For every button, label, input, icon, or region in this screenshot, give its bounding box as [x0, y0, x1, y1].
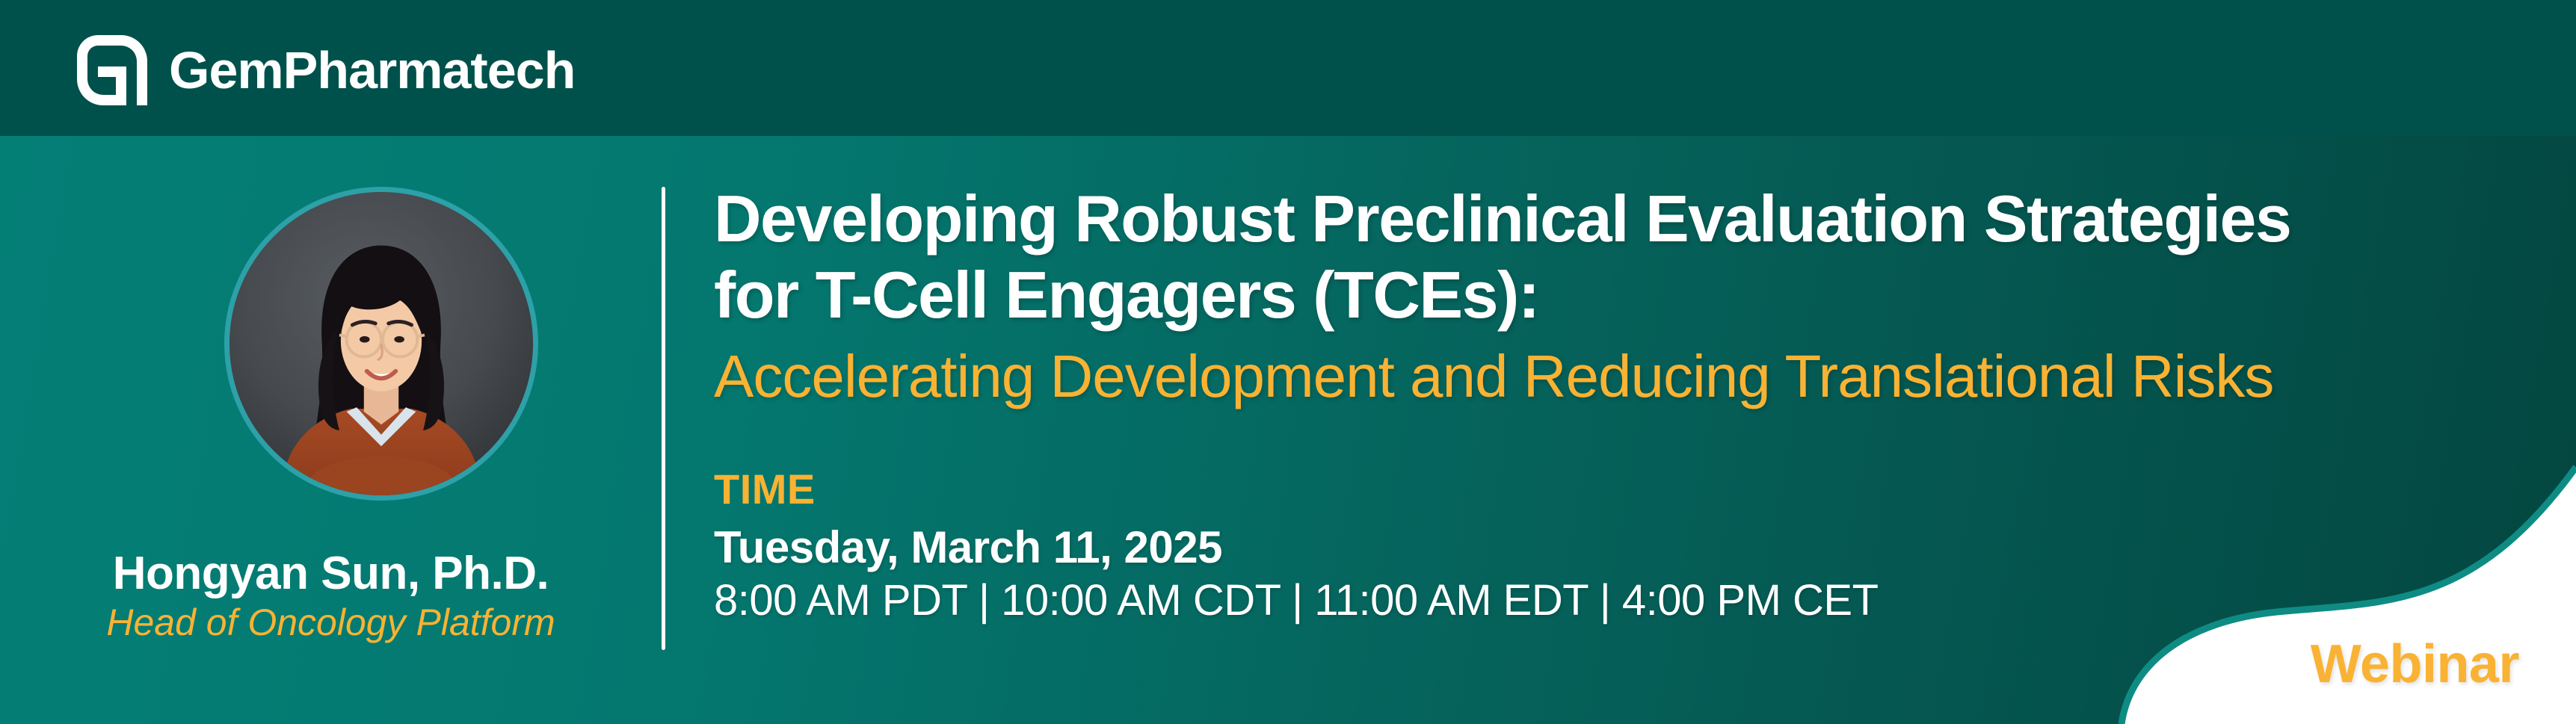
webinar-banner: GemPharmatech — [0, 0, 2576, 724]
top-brand-bar: GemPharmatech — [0, 0, 2576, 136]
speaker-column: Hongyan Sun, Ph.D. Head of Oncology Plat… — [0, 136, 662, 724]
webinar-title: Developing Robust Preclinical Evaluation… — [714, 181, 2344, 333]
brand-wordmark: GemPharmatech — [169, 44, 575, 96]
vertical-divider — [662, 187, 665, 650]
webinar-subtitle: Accelerating Development and Reducing Tr… — [714, 341, 2344, 412]
webinar-title-line-2: for T-Cell Engagers (TCEs): — [714, 257, 2344, 333]
gempharmatech-g-mark-icon — [75, 33, 150, 108]
brand-lockup[interactable]: GemPharmatech — [75, 33, 575, 108]
speaker-portrait-avatar — [224, 187, 538, 501]
webinar-title-line-1: Developing Robust Preclinical Evaluation… — [714, 181, 2344, 257]
speaker-role: Head of Oncology Platform — [0, 601, 662, 644]
webinar-badge-label: Webinar — [2311, 637, 2519, 691]
speaker-name: Hongyan Sun, Ph.D. — [0, 547, 662, 600]
